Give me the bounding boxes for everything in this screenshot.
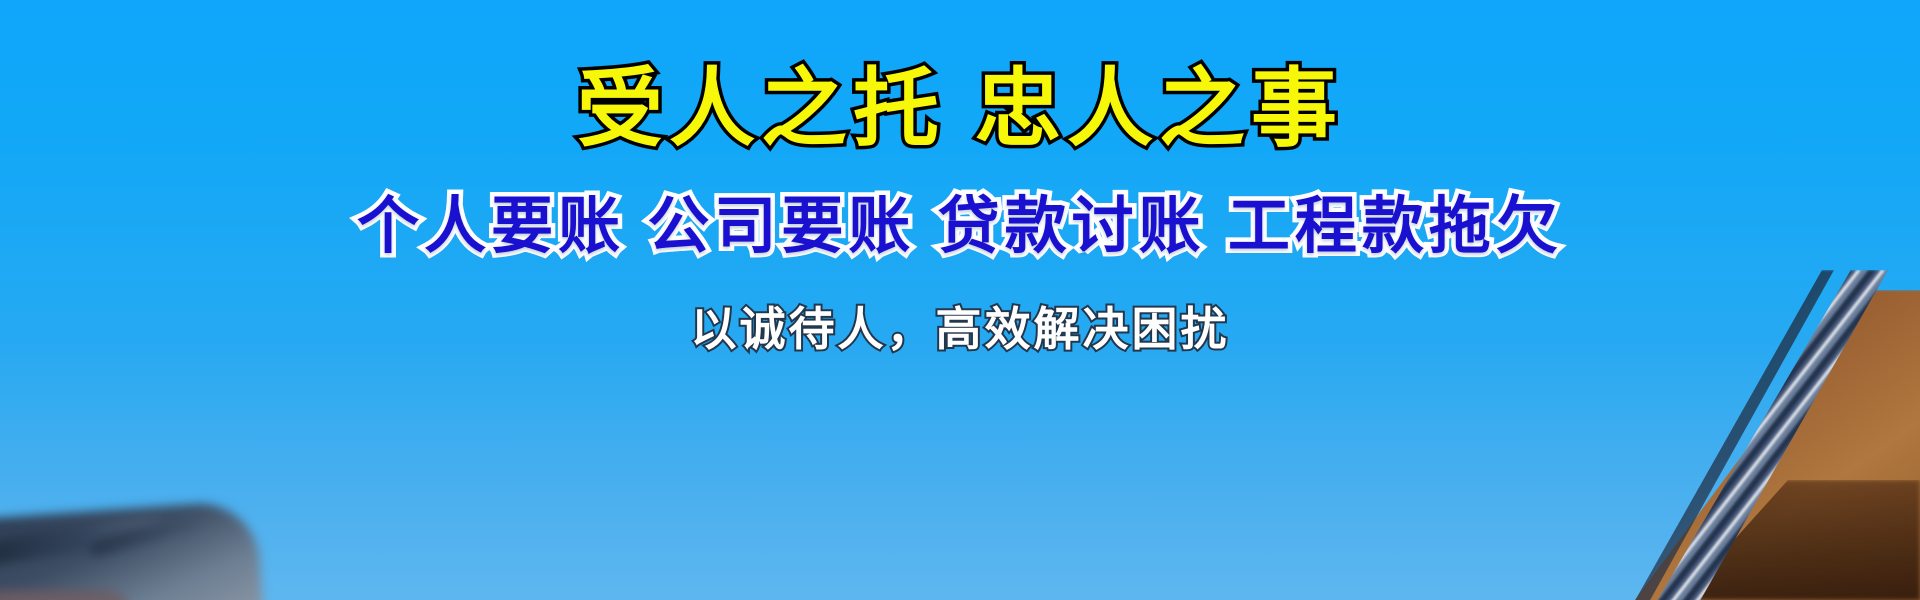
banner-headline: 受人之托 忠人之事	[577, 66, 1343, 152]
banner-tagline: 以诚待人，高效解决困扰	[691, 306, 1230, 352]
banner-text-stack: 受人之托 忠人之事 个人要账 公司要账 贷款讨账 工程款拖欠 以诚待人，高效解决…	[0, 0, 1920, 600]
banner-services-line: 个人要账 公司要账 贷款讨账 工程款拖欠	[357, 196, 1563, 258]
promo-banner: 受人之托 忠人之事 个人要账 公司要账 贷款讨账 工程款拖欠 以诚待人，高效解决…	[0, 0, 1920, 600]
